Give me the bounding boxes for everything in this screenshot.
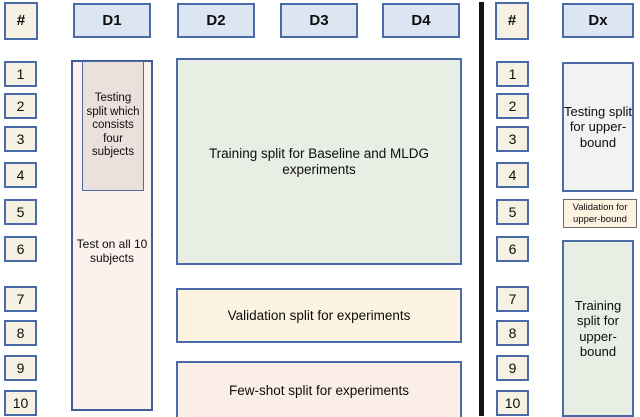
right-index-cell-7: 7 [496, 286, 529, 312]
right-index-cell-5: 5 [496, 199, 529, 225]
panel-divider [479, 2, 484, 416]
fewshot-split-block: Few-shot split for experiments [176, 361, 462, 417]
training-split-upperbound-block: Training split for upper-bound [562, 240, 634, 417]
right-index-cell-1: 1 [496, 61, 529, 87]
column-header-dx: Dx [562, 3, 634, 38]
column-header-d4: D4 [382, 3, 460, 38]
column-header-d2: D2 [177, 3, 255, 38]
right-index-cell-2: 2 [496, 93, 529, 119]
right-index-cell-6: 6 [496, 236, 529, 262]
right-index-cell-4: 4 [496, 162, 529, 188]
right-index-header: # [495, 2, 529, 40]
column-header-d3: D3 [280, 3, 358, 38]
column-header-d1: D1 [73, 3, 151, 38]
d1-testing-split-box: Testing split which consists four subjec… [82, 61, 144, 191]
left-index-cell-8: 8 [4, 320, 37, 346]
left-index-cell-3: 3 [4, 126, 37, 152]
validation-split-block: Validation split for experiments [176, 288, 462, 343]
left-index-cell-1: 1 [4, 61, 37, 87]
left-index-cell-4: 4 [4, 162, 37, 188]
diagram-canvas: # D1 D2 D3 D4 1 2 3 4 5 6 7 8 9 10 Testi… [0, 0, 640, 417]
right-index-cell-8: 8 [496, 320, 529, 346]
d1-test-on-all-label: Test on all 10 subjects [74, 237, 150, 266]
right-index-cell-10: 10 [496, 390, 529, 416]
left-index-cell-7: 7 [4, 286, 37, 312]
right-index-cell-3: 3 [496, 126, 529, 152]
validation-upperbound-block: Validation for upper-bound [563, 199, 637, 228]
right-index-cell-9: 9 [496, 355, 529, 381]
training-split-block: Training split for Baseline and MLDG exp… [176, 58, 462, 265]
left-index-cell-6: 6 [4, 236, 37, 262]
left-index-cell-9: 9 [4, 355, 37, 381]
left-index-cell-5: 5 [4, 199, 37, 225]
testing-split-upperbound-block: Testing split for upper-bound [562, 62, 634, 192]
left-index-header: # [4, 2, 38, 40]
left-index-cell-10: 10 [4, 390, 37, 416]
left-index-cell-2: 2 [4, 93, 37, 119]
